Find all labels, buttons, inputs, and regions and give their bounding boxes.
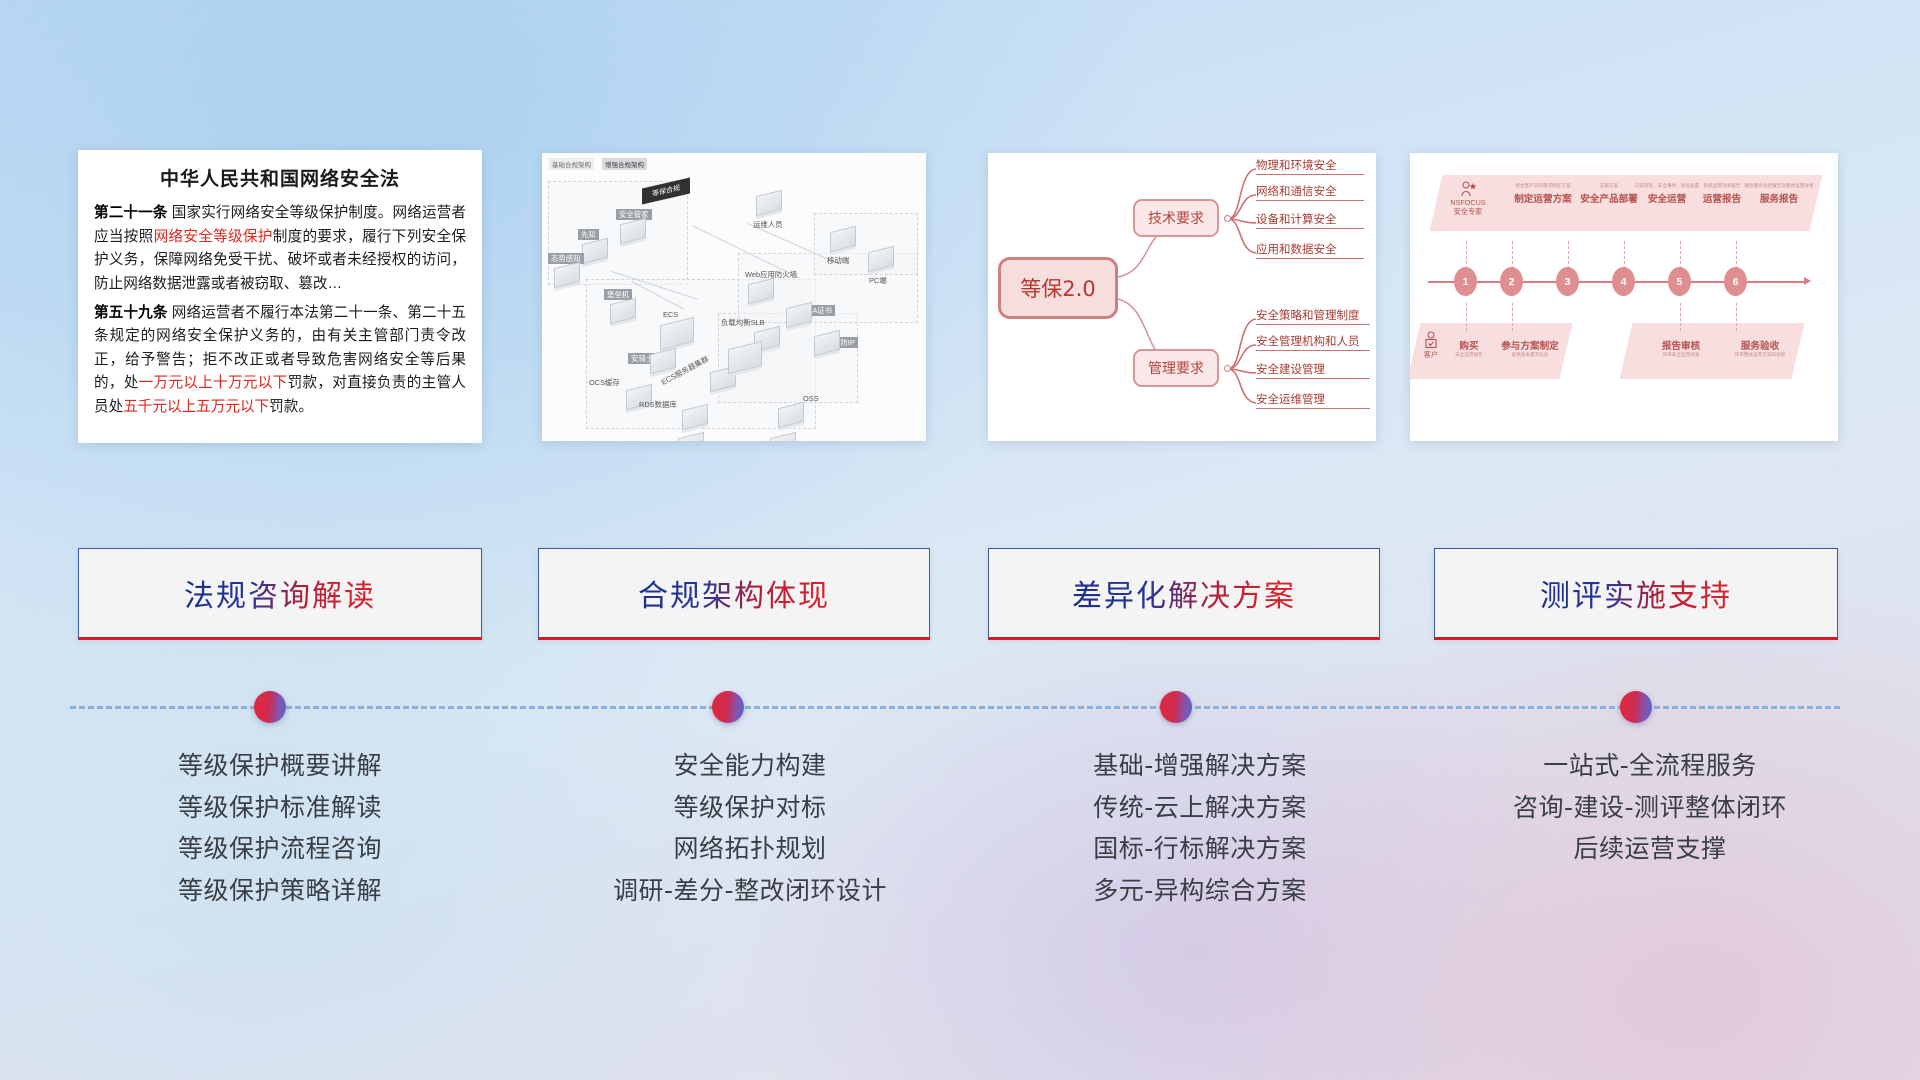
- list-column-assessment-support: 一站式-全流程服务 咨询-建设-测评整体闭环 后续运营支撑: [1440, 745, 1860, 870]
- cube-icon: [786, 302, 812, 328]
- law-article-number-2: 第五十九条: [94, 305, 168, 321]
- timeline-dot-1[interactable]: [254, 691, 286, 723]
- architecture-node-vpc: VPC: [770, 435, 796, 441]
- list-column-regulation-consulting: 等级保护概要讲解 等级保护标准解读 等级保护流程咨询 等级保护策略详解: [70, 745, 490, 911]
- service-step-bottom-5: 报告审核 评审安全运营效果: [1644, 335, 1718, 357]
- cube-icon: [756, 190, 782, 216]
- provider-identity: NSFOCUS 安全专家: [1438, 181, 1498, 216]
- service-step-sub: 提供基本需求信息: [1490, 352, 1570, 357]
- list-column-compliance-architecture: 安全能力构建 等级保护对标 网络拓扑规划 调研-差分-整改闭环设计: [540, 745, 960, 911]
- law-seg-2-4: 罚款。: [269, 399, 313, 415]
- architecture-canvas: 基础合规架构 增强合规架构 等保合规 安全管家 先知 态势感知: [542, 153, 926, 441]
- service-node-6[interactable]: 6: [1724, 267, 1747, 296]
- architecture-node-pc-client: PC端: [868, 249, 894, 269]
- architecture-node-db-audit: 数据库审计: [678, 435, 704, 441]
- mindmap-root-node[interactable]: 等保2.0: [998, 257, 1118, 319]
- architecture-node-ops-person: 运维人员: [756, 193, 782, 213]
- customer-person-icon: [1423, 331, 1439, 349]
- architecture-node-waf: Web应用防火墙: [748, 281, 774, 301]
- service-axis-arrow-icon: [1804, 277, 1811, 285]
- mindmap-leaf-policy-system[interactable]: 安全策略和管理制度: [1256, 307, 1370, 325]
- cube-icon: [678, 432, 704, 441]
- architecture-tab-basic[interactable]: 基础合规架构: [549, 158, 594, 170]
- cube-icon: [582, 238, 608, 264]
- service-tick-b6: [1736, 303, 1737, 331]
- card-architecture-diagram[interactable]: 基础合规架构 增强合规架构 等保合规 安全管家 先知 态势感知: [542, 153, 926, 441]
- mindmap-collapse-dot-technical[interactable]: [1224, 215, 1231, 222]
- cube-icon: [682, 404, 708, 430]
- architecture-node-generic-a: [728, 345, 762, 370]
- service-step-title: 报告审核: [1644, 338, 1718, 352]
- cube-icon: [660, 317, 694, 350]
- customer-identity: 客户: [1414, 331, 1448, 359]
- service-step-title: 购买: [1446, 338, 1492, 352]
- cube-icon: [728, 341, 762, 374]
- service-node-3[interactable]: 3: [1556, 267, 1579, 296]
- provider-role: 安全专家: [1438, 207, 1498, 216]
- architecture-node-anti-ddos-ip: 高防IP: [814, 333, 840, 353]
- architecture-node-label: 先知: [578, 229, 599, 240]
- mindmap-leaf-network-comm[interactable]: 网络和通信安全: [1256, 183, 1364, 201]
- mindmap-leaf-physical-env[interactable]: 物理和环境安全: [1256, 157, 1364, 175]
- timeline-dot-4[interactable]: [1620, 691, 1652, 723]
- architecture-node-rds: RDS数据库: [682, 407, 708, 427]
- service-node-4[interactable]: 4: [1612, 267, 1635, 296]
- service-step-bottom-2: 参与方案制定 提供基本需求信息: [1490, 335, 1570, 357]
- list-item: 基础-增强解决方案: [985, 745, 1415, 787]
- title-box-regulation-consulting[interactable]: 法规咨询解读: [78, 548, 482, 640]
- service-node-5[interactable]: 5: [1668, 267, 1691, 296]
- mindmap-branch-management[interactable]: 管理要求: [1133, 349, 1219, 387]
- service-tick-b1: [1466, 303, 1467, 331]
- provider-name: NSFOCUS: [1438, 198, 1498, 207]
- architecture-tabs: 基础合规架构 增强合规架构: [549, 158, 647, 170]
- list-item: 安全能力构建: [540, 745, 960, 787]
- list-item: 后续运营支撑: [1440, 828, 1860, 870]
- list-column-differentiated-solution: 基础-增强解决方案 传统-云上解决方案 国标-行标解决方案 多元-异构综合方案: [985, 745, 1415, 911]
- service-step-top-6: 输出服务总结报告及整体运营效果 服务报告: [1740, 183, 1818, 205]
- law-seg-1-1: 网络安全等级保护: [154, 229, 273, 245]
- service-step-title: 服务验收: [1718, 338, 1802, 352]
- service-step-title: 服务报告: [1740, 191, 1818, 205]
- list-item: 等级保护策略详解: [70, 870, 490, 912]
- cube-icon: [830, 226, 856, 252]
- list-item: 调研-差分-整改闭环设计: [540, 870, 960, 912]
- mindmap-leaf-org-personnel[interactable]: 安全管理机构和人员: [1256, 333, 1370, 351]
- list-item: 传统-云上解决方案: [985, 787, 1415, 829]
- law-paragraph-1: 第二十一条 国家实行网络安全等级保护制度。网络运营者应当按照网络安全等级保护制度…: [94, 202, 466, 297]
- timeline-dot-2[interactable]: [712, 691, 744, 723]
- architecture-node-label: 运维人员: [750, 219, 786, 230]
- service-node-2[interactable]: 2: [1500, 267, 1523, 296]
- law-paragraph-2: 第五十九条 网络运营者不履行本法第二十一条、第二十五条规定的网络安全保护义务的，…: [94, 302, 466, 420]
- mindmap-leaf-app-data[interactable]: 应用和数据安全: [1256, 241, 1364, 259]
- list-item: 等级保护标准解读: [70, 787, 490, 829]
- card-mindmap[interactable]: 等保2.0 技术要求 物理和环境安全 网络和通信安全 设备和计算安全 应用和数据…: [988, 153, 1376, 441]
- customer-name: 客户: [1414, 350, 1448, 359]
- service-step-sub: 输出服务总结报告及整体运营效果: [1740, 183, 1818, 188]
- service-tick-b5: [1680, 303, 1681, 331]
- list-item: 等级保护概要讲解: [70, 745, 490, 787]
- law-seg-2-3: 五千元以上五万元以下: [123, 399, 269, 415]
- title-label: 法规咨询解读: [184, 571, 376, 615]
- service-step-sub: 评审整体运营方案和效果: [1718, 352, 1802, 357]
- title-box-assessment-support[interactable]: 测评实施支持: [1434, 548, 1838, 640]
- service-step-bottom-1: 购买 安全运营报告: [1446, 335, 1492, 357]
- law-title: 中华人民共和国网络安全法: [94, 164, 466, 191]
- service-node-1[interactable]: 1: [1454, 267, 1477, 296]
- list-item: 多元-异构综合方案: [985, 870, 1415, 912]
- architecture-node-situational-awareness: 态势感知: [554, 265, 580, 285]
- architecture-node-label: OCS缓存: [586, 377, 623, 388]
- list-item: 国标-行标解决方案: [985, 828, 1415, 870]
- law-article-number-1: 第二十一条: [94, 205, 168, 221]
- architecture-node-xianzhi: 先知: [582, 241, 608, 261]
- architecture-node-label: 负载均衡SLB: [718, 317, 768, 328]
- cube-icon: [554, 262, 580, 288]
- mindmap-leaf-construction-mgmt[interactable]: 安全建设管理: [1256, 361, 1370, 379]
- service-step-bottom-6: 服务验收 评审整体运营方案和效果: [1718, 335, 1802, 357]
- architecture-node-label: 安全管家: [616, 209, 652, 220]
- title-label: 合规架构体现: [638, 571, 830, 615]
- list-item: 等级保护对标: [540, 787, 960, 829]
- title-box-differentiated-solution[interactable]: 差异化解决方案: [988, 548, 1380, 640]
- cube-icon: [770, 432, 796, 441]
- mindmap-branch-technical[interactable]: 技术要求: [1133, 199, 1219, 237]
- service-tick-b2: [1512, 303, 1513, 331]
- service-step-sub: 安全运营报告: [1446, 352, 1492, 357]
- service-step-title: 参与方案制定: [1490, 338, 1570, 352]
- architecture-node-label: RDS数据库: [636, 399, 680, 410]
- title-label: 测评实施支持: [1540, 571, 1732, 615]
- title-label: 差异化解决方案: [1072, 571, 1296, 615]
- expert-person-icon: [1459, 181, 1477, 197]
- timeline-dashed-line: [70, 706, 1840, 709]
- cube-icon: [610, 298, 636, 324]
- law-seg-2-1: 一万元以上十万元以下: [139, 375, 288, 391]
- mindmap-canvas: 等保2.0 技术要求 物理和环境安全 网络和通信安全 设备和计算安全 应用和数据…: [988, 153, 1376, 441]
- list-item: 等级保护流程咨询: [70, 828, 490, 870]
- architecture-node-bastion: 堡垒机: [610, 301, 636, 321]
- service-step-sub: 评审安全运营效果: [1644, 352, 1718, 357]
- architecture-node-oss: OSS: [778, 405, 804, 425]
- lists-row: 等级保护概要讲解 等级保护标准解读 等级保护流程咨询 等级保护策略详解 安全能力…: [0, 745, 1920, 995]
- list-item: 一站式-全流程服务: [1440, 745, 1860, 787]
- card-law-text[interactable]: 中华人民共和国网络安全法 第二十一条 国家实行网络安全等级保护制度。网络运营者应…: [78, 150, 482, 443]
- architecture-node-security-steward: 安全管家: [620, 221, 646, 241]
- architecture-node-ecs: ECS: [660, 321, 694, 346]
- architecture-node-label: ECS: [660, 309, 681, 320]
- cards-row: 中华人民共和国网络安全法 第二十一条 国家实行网络安全等级保护制度。网络运营者应…: [0, 150, 1920, 450]
- list-item: 咨询-建设-测评整体闭环: [1440, 787, 1860, 829]
- architecture-node-label: 移动端: [824, 255, 852, 266]
- cube-icon: [620, 218, 646, 244]
- cube-icon: [868, 246, 894, 272]
- cube-icon: [748, 278, 774, 304]
- mindmap-collapse-dot-management[interactable]: [1224, 365, 1231, 372]
- architecture-node-label: PC端: [866, 275, 890, 286]
- mindmap-leaf-device-compute[interactable]: 设备和计算安全: [1256, 211, 1364, 229]
- title-box-compliance-architecture[interactable]: 合规架构体现: [538, 548, 930, 640]
- titles-row: 法规咨询解读 合规架构体现 差异化解决方案 测评实施支持: [0, 548, 1920, 648]
- timeline-dot-3[interactable]: [1160, 691, 1192, 723]
- mindmap-leaf-ops-mgmt[interactable]: 安全运维管理: [1256, 391, 1370, 409]
- cube-icon: [814, 330, 840, 356]
- architecture-node-ca-cert: CA证书: [786, 305, 812, 325]
- service-timeline-canvas: NSFOCUS 安全专家 结合客户实际需求制定方案 制定运营方案 实施方案 安全…: [1410, 153, 1838, 441]
- slide-root: { "theme": { "accent_red": "#d61b22", "a…: [0, 0, 1920, 1080]
- card-service-timeline[interactable]: NSFOCUS 安全专家 结合客户实际需求制定方案 制定运营方案 实施方案 安全…: [1410, 153, 1838, 441]
- architecture-node-anqishi: 安骑士: [650, 351, 676, 371]
- architecture-tab-enhanced[interactable]: 增强合规架构: [602, 158, 647, 170]
- cube-icon: [778, 402, 804, 428]
- process-timeline: [0, 690, 1920, 740]
- architecture-node-mobile-client: 移动端: [830, 229, 856, 249]
- list-item: 网络拓扑规划: [540, 828, 960, 870]
